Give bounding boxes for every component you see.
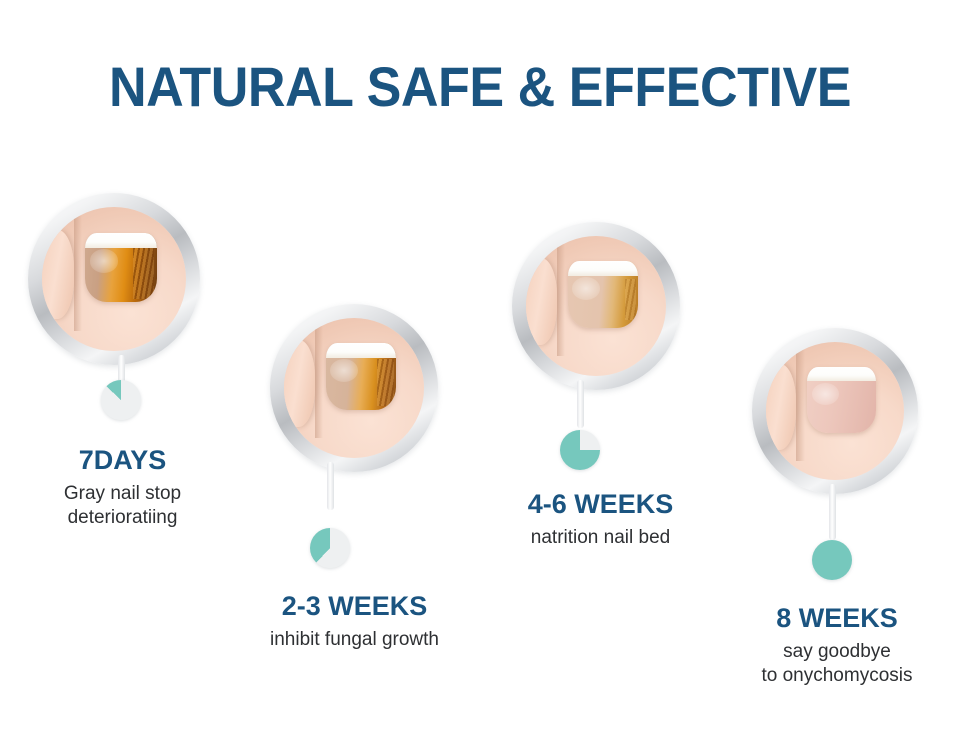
nail-photo-disc-4 [752,328,918,494]
nail-plate-3 [568,261,638,328]
connector-stem-3 [577,380,584,428]
nail-photo-disc-1 [28,193,200,365]
toe-illustration-1 [42,207,186,351]
stage-description-2: inhibit fungal growth [222,628,487,652]
pie-progress-icon [310,528,350,568]
stage-period-3: 4-6 WEEKS [468,490,733,520]
stage-description-1: Gray nail stop deterioratiing [20,482,225,531]
pie-progress-icon [560,430,600,470]
page-title: NATURAL SAFE & EFFECTIVE [34,58,927,117]
stage-description-3: natrition nail bed [468,526,733,550]
pie-progress-icon [101,380,141,420]
nail-plate-2 [326,343,396,410]
connector-stem-2 [327,462,334,510]
progress-marker-4 [812,540,852,580]
progress-marker-1 [101,380,141,420]
progress-marker-2 [310,528,350,568]
nail-photo-disc-3 [512,222,680,390]
toe-illustration-3 [526,236,666,376]
stage-period-4: 8 WEEKS [718,604,956,634]
stage-caption-3: 4-6 WEEKS natrition nail bed [468,490,733,550]
nail-photo-disc-2 [270,304,438,472]
connector-stem-4 [829,484,836,540]
stage-period-1: 7DAYS [20,446,225,476]
nail-plate-1 [85,233,157,302]
stage-period-2: 2-3 WEEKS [222,592,487,622]
toe-illustration-2 [284,318,424,458]
pie-progress-icon [812,540,852,580]
stage-description-4: say goodbye to onychomycosis [718,640,956,689]
progress-marker-3 [560,430,600,470]
stage-caption-4: 8 WEEKS say goodbye to onychomycosis [718,604,956,688]
nail-plate-4 [807,367,876,433]
toe-illustration-4 [766,342,904,480]
stage-caption-1: 7DAYS Gray nail stop deterioratiing [20,446,225,530]
stage-caption-2: 2-3 WEEKS inhibit fungal growth [222,592,487,652]
